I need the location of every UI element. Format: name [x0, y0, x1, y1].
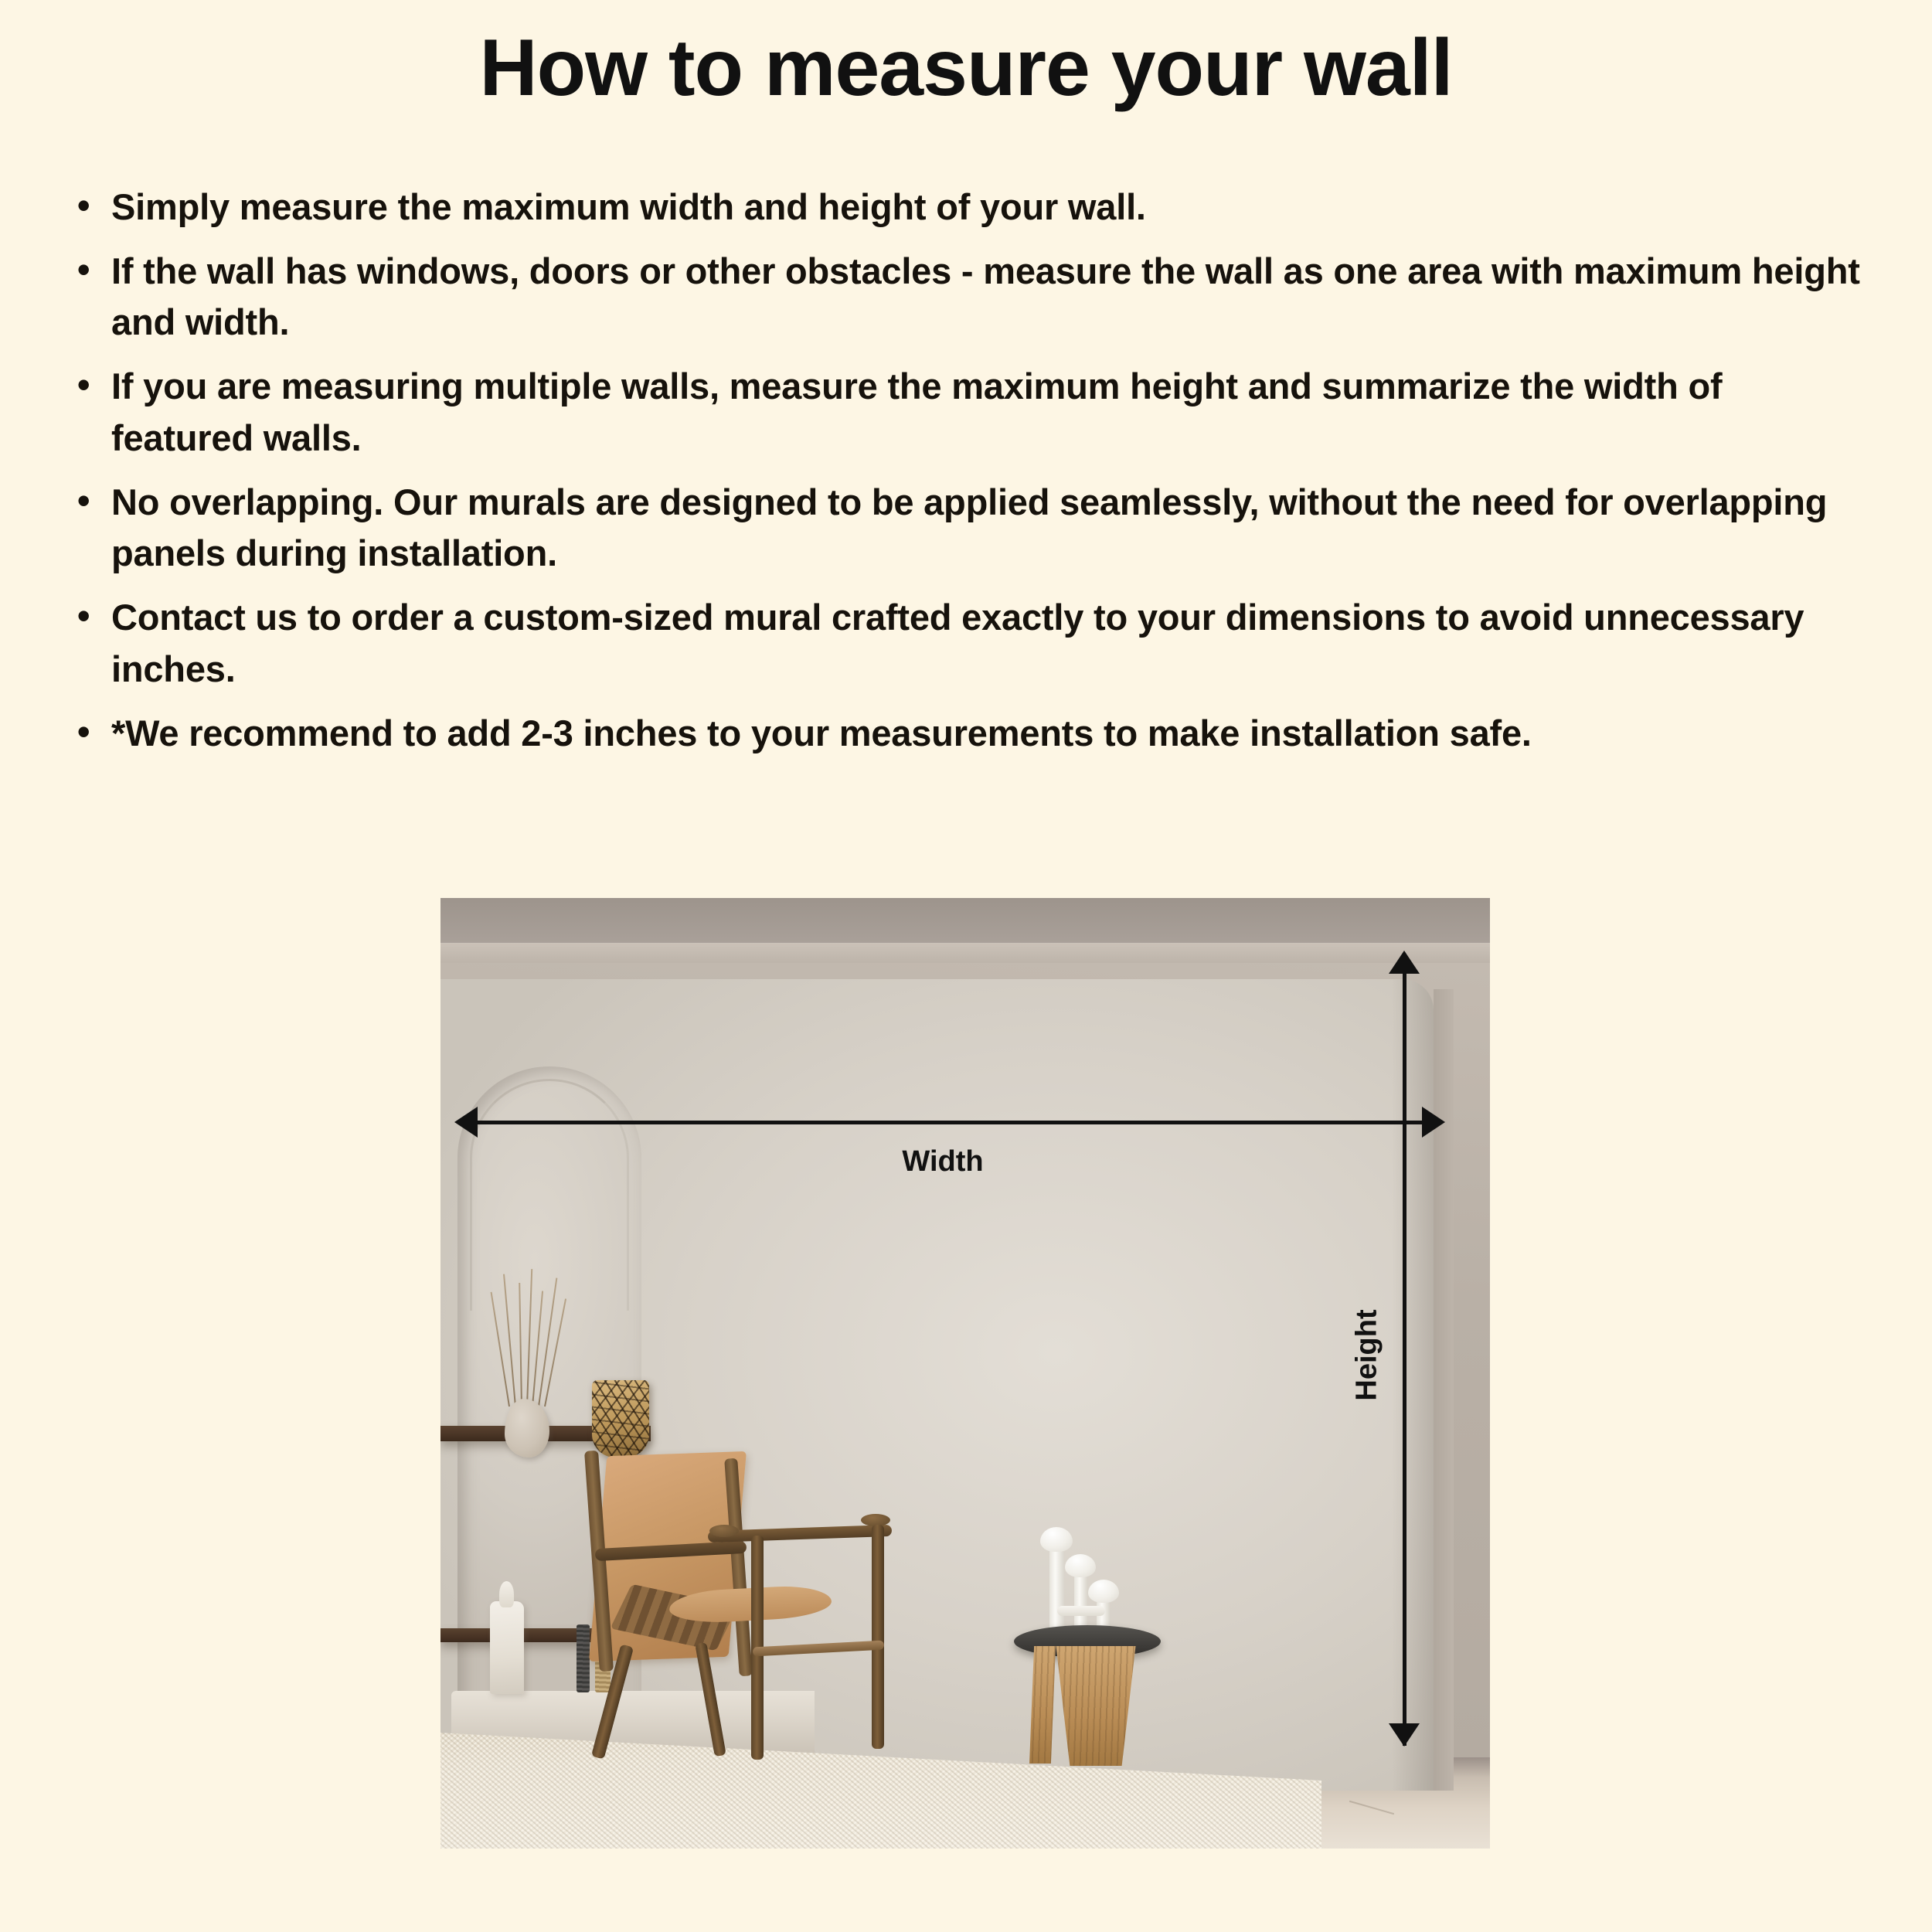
list-item: If you are measuring multiple walls, mea…: [71, 361, 1872, 464]
chair-stretcher: [753, 1641, 884, 1657]
lounge-chair: [553, 1451, 924, 1775]
arrow-up-icon: [1389, 951, 1420, 974]
width-dimension-line: [470, 1121, 1440, 1124]
list-item: No overlapping. Our murals are designed …: [71, 477, 1872, 580]
sculpture-cap: [1065, 1554, 1096, 1577]
chair-arm-knob: [709, 1525, 739, 1537]
sculpture-cap: [1088, 1580, 1119, 1603]
instructions-list: Simply measure the maximum width and hei…: [71, 182, 1872, 771]
list-item: *We recommend to add 2-3 inches to your …: [71, 708, 1872, 760]
arrow-right-icon: [1422, 1107, 1445, 1138]
arrow-left-icon: [454, 1107, 478, 1138]
list-item: If the wall has windows, doors or other …: [71, 246, 1872, 349]
sculpture-stem: [1049, 1549, 1064, 1634]
page-title: How to measure your wall: [0, 23, 1932, 113]
height-label: Height: [1351, 1309, 1384, 1400]
list-item: Simply measure the maximum width and hei…: [71, 182, 1872, 233]
table-leg: [1053, 1646, 1139, 1766]
table-leg: [1029, 1646, 1056, 1764]
room-illustration: Width Height: [440, 898, 1490, 1849]
figure-sculpture-head: [499, 1581, 514, 1607]
ceiling-lip: [440, 943, 1490, 963]
figure-sculpture: [490, 1601, 524, 1694]
ceiling: [440, 898, 1490, 943]
dried-reeds: [505, 1269, 550, 1406]
list-item: Contact us to order a custom-sized mural…: [71, 592, 1872, 695]
side-table: [1014, 1521, 1161, 1768]
chair-leg: [872, 1525, 884, 1749]
woven-basket: [592, 1380, 649, 1458]
arrow-down-icon: [1389, 1723, 1420, 1747]
sculpture-bridge: [1057, 1606, 1105, 1616]
width-label: Width: [440, 1145, 1445, 1179]
page-root: How to measure your wall Simply measure …: [0, 0, 1932, 1932]
sculpture-cap: [1040, 1527, 1073, 1552]
height-dimension-line: [1403, 973, 1406, 1746]
chair-leg: [695, 1642, 726, 1757]
